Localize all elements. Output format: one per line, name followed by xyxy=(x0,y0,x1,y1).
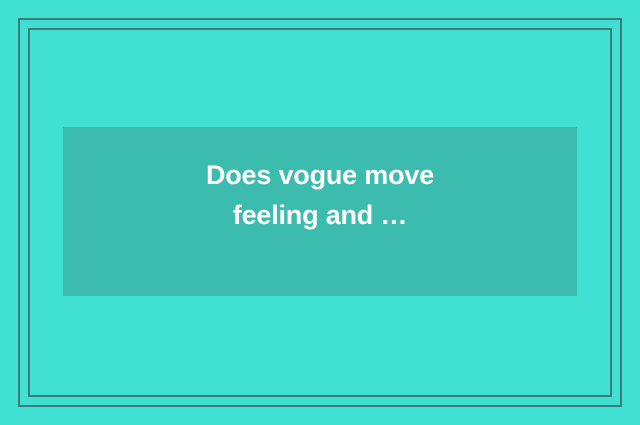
quote-line-1: Does vogue move xyxy=(206,155,434,195)
quote-banner: Does vogue move feeling and … xyxy=(63,127,577,296)
quote-card: Does vogue move feeling and … xyxy=(0,0,640,425)
quote-line-2: feeling and … xyxy=(233,195,407,235)
